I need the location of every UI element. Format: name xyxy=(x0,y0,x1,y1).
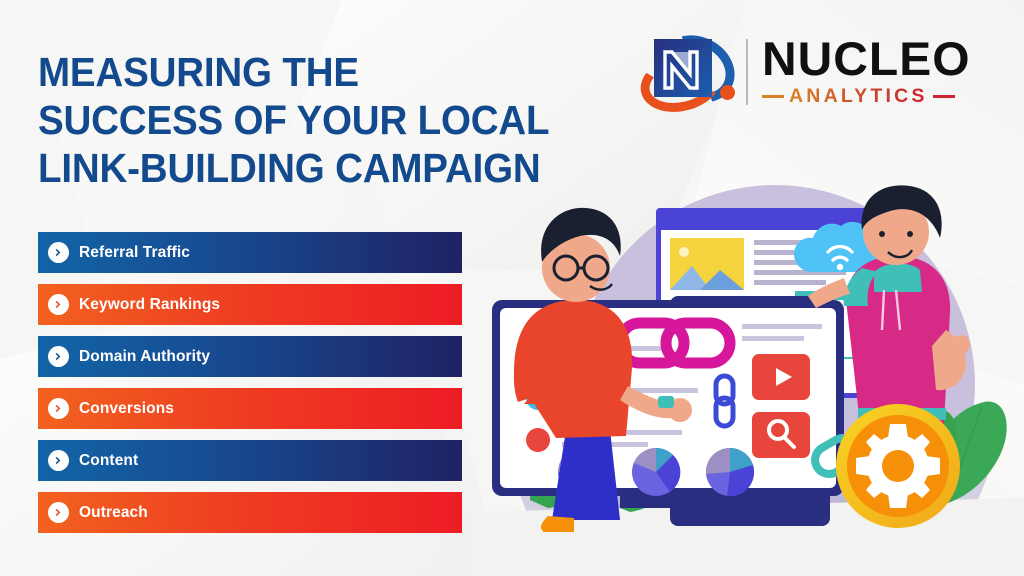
pie-chart-2 xyxy=(632,448,680,496)
metric-bar[interactable]: Keyword Rankings xyxy=(38,284,462,325)
chevron-right-icon xyxy=(48,450,69,471)
illustration-svg xyxy=(470,0,1024,576)
metric-bar-label: Referral Traffic xyxy=(79,244,190,262)
infographic-canvas: MEASURING THE SUCCESS OF YOUR LOCAL LINK… xyxy=(0,0,1024,576)
metric-bar[interactable]: Conversions xyxy=(38,388,462,429)
search-tile-icon xyxy=(752,412,810,458)
metric-bar-label: Content xyxy=(79,452,138,470)
chevron-right-icon xyxy=(48,398,69,419)
metric-bar[interactable]: Outreach xyxy=(38,492,462,533)
metric-bar-label: Conversions xyxy=(79,400,174,418)
video-tile-icon xyxy=(752,354,810,400)
metric-bar-label: Outreach xyxy=(79,504,148,522)
wristwatch xyxy=(658,396,674,408)
chevron-right-icon xyxy=(48,346,69,367)
chevron-right-icon xyxy=(48,294,69,315)
metric-bar[interactable]: Domain Authority xyxy=(38,336,462,377)
metric-bar[interactable]: Referral Traffic xyxy=(38,232,462,273)
metric-bar[interactable]: Content xyxy=(38,440,462,481)
metric-bar-label: Domain Authority xyxy=(79,348,210,366)
pie-chart-3 xyxy=(706,448,754,496)
gear-badge-icon xyxy=(836,404,960,528)
metric-bar-label: Keyword Rankings xyxy=(79,296,220,314)
list-dot-red xyxy=(526,428,550,452)
hero-illustration xyxy=(470,0,1024,576)
chevron-right-icon xyxy=(48,502,69,523)
chevron-right-icon xyxy=(48,242,69,263)
metrics-list: Referral TrafficKeyword RankingsDomain A… xyxy=(38,232,462,544)
